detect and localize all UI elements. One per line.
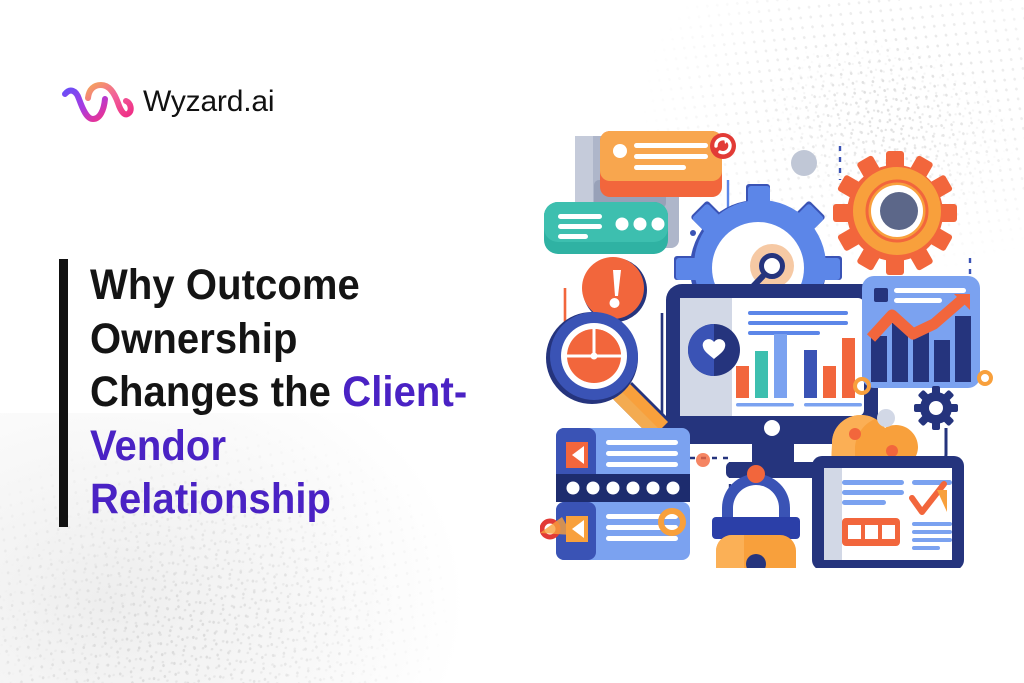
headline-line-2-plain: Changes the	[90, 368, 342, 416]
hero-illustration	[540, 118, 1020, 568]
navy-small-gear-icon	[914, 386, 958, 430]
wyzard-w-wave-logo-icon	[62, 79, 134, 125]
blue-line-chart-card-icon	[862, 276, 980, 388]
orange-padlock-icon	[712, 465, 800, 568]
blog-banner: Wyzard.ai Why Outcome Ownership Changes …	[0, 0, 1024, 683]
gray-circle-dot-icon	[791, 150, 817, 176]
page-title: Why Outcome Ownership Changes the Client…	[90, 259, 499, 527]
brand-name: Wyzard.ai	[143, 87, 274, 117]
orange-notification-card-icon	[600, 131, 722, 197]
gray-small-dot-icon	[877, 409, 895, 427]
orange-cloud-icon	[832, 415, 918, 461]
server-rack-icon	[556, 428, 690, 560]
headline-line-3-accent: Relationship	[90, 475, 331, 523]
red-refresh-badge-icon	[710, 133, 736, 159]
laptop-document-icon	[798, 456, 978, 568]
headline-accent-bar	[59, 259, 68, 527]
amber-small-ring-icon	[979, 372, 991, 384]
small-blue-dot-icon	[690, 230, 696, 236]
hero-illustration-svg	[540, 118, 1020, 568]
headline-line-1: Why Outcome Ownership	[90, 261, 360, 363]
headline-block: Why Outcome Ownership Changes the Client…	[59, 259, 530, 527]
orange-gear-icon	[833, 151, 957, 275]
teal-message-card-icon	[544, 202, 668, 254]
brand-logo[interactable]: Wyzard.ai	[62, 79, 274, 125]
orange-magnifying-glass-pie-icon	[546, 312, 674, 442]
orange-dot-icon	[696, 453, 710, 467]
